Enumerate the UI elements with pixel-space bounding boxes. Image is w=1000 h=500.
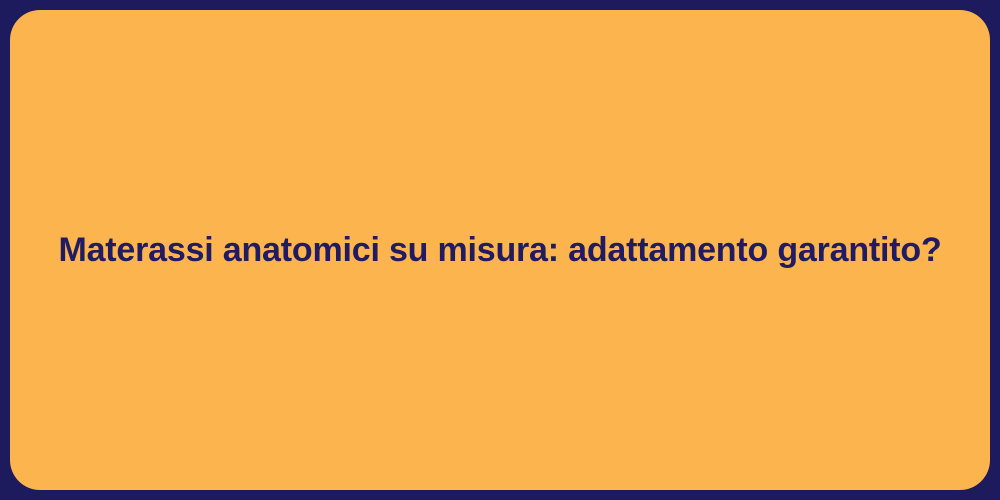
- card-panel: Materassi anatomici su misura: adattamen…: [10, 10, 990, 490]
- card-canvas: Materassi anatomici su misura: adattamen…: [0, 0, 1000, 500]
- card-headline: Materassi anatomici su misura: adattamen…: [34, 229, 965, 272]
